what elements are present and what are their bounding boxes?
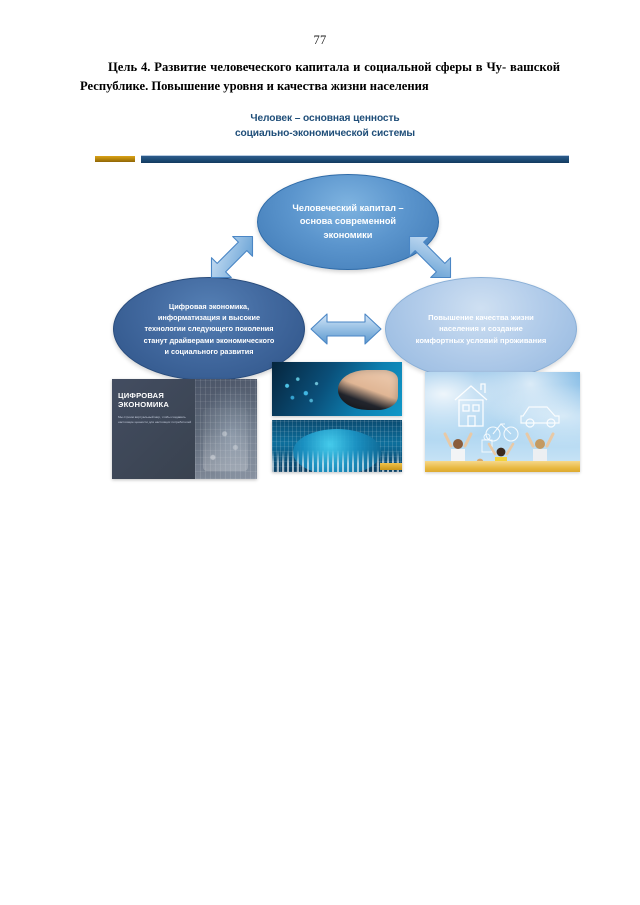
ellipse-quality-of-life: Повышение качества жизни населения и соз…: [385, 277, 577, 381]
ellipse-quality-of-life-text: Повышение качества жизни населения и соз…: [412, 312, 551, 347]
ellipse-top-line-3: экономики: [292, 229, 403, 243]
figure-human-capital-diagram: Человек – основная ценность социально-эк…: [85, 112, 565, 492]
figure-title-line-1: Человек – основная ценность: [85, 112, 565, 127]
photo-digital-economy-illustration: [195, 379, 257, 479]
ellipse-top-line-1: Человеческий капитал –: [292, 202, 403, 216]
photo-digital-economy-title-line-1: ЦИФРОВАЯ: [118, 391, 195, 400]
house-sketch-icon: [455, 384, 487, 426]
photo-digital-economy-title: ЦИФРОВАЯ ЭКОНОМИКА: [118, 391, 195, 410]
divider-gold-accent: [95, 156, 135, 162]
ellipse-left-line-2: информатизация и высокие: [144, 312, 275, 323]
double-headed-diagonal-arrow-left-icon: [197, 222, 267, 292]
ellipse-digital-economy-text: Цифровая экономика, информатизация и выс…: [138, 301, 281, 357]
ellipse-right-line-1: Повышение качества жизни: [416, 312, 547, 324]
ellipse-left-line-1: Цифровая экономика,: [144, 301, 275, 312]
photo-digital-globe: [272, 420, 402, 472]
ellipse-right-line-3: комфортных условий проживания: [416, 335, 547, 347]
page-heading: Цель 4. Развитие человеческого капитала …: [80, 58, 560, 95]
figure-title: Человек – основная ценность социально-эк…: [85, 112, 565, 141]
document-page: 77 Цель 4. Развитие человеческого капита…: [0, 0, 640, 905]
ellipse-top-line-2: основа современной: [292, 215, 403, 229]
globe-gold-accent: [380, 463, 402, 470]
human-hand-shape: [338, 370, 398, 410]
double-headed-horizontal-arrow-icon: [307, 308, 385, 350]
figure-title-line-2: социально-экономической системы: [85, 127, 565, 142]
photo-digital-handshake: [272, 362, 402, 416]
divider-navy-bar: [141, 155, 569, 163]
ellipse-left-line-4: станут драйверами экономического: [144, 335, 275, 346]
ellipse-left-line-5: и социального развития: [144, 346, 275, 357]
digital-hand-shape: [275, 371, 343, 409]
ellipse-right-line-2: населения и создание: [416, 323, 547, 335]
page-number: 77: [0, 33, 640, 48]
photo-digital-economy: ЦИФРОВАЯ ЭКОНОМИКА Мы строим виртуальный…: [112, 379, 257, 479]
photo-digital-economy-subtitle: Мы строим виртуальный мир, чтобы создава…: [118, 415, 194, 425]
photo-family-quality-of-life: [425, 372, 580, 472]
car-sketch-icon: [521, 407, 559, 427]
family-photo-ground-strip: [425, 461, 580, 472]
ellipse-left-line-3: технологии следующего поколения: [144, 323, 275, 334]
double-headed-diagonal-arrow-right-icon: [395, 222, 465, 292]
photo-digital-economy-title-line-2: ЭКОНОМИКА: [118, 400, 195, 409]
heading-line-1: Цель 4. Развитие человеческого капитала …: [108, 60, 506, 74]
photo-digital-economy-text-panel: ЦИФРОВАЯ ЭКОНОМИКА Мы строим виртуальный…: [112, 379, 195, 479]
